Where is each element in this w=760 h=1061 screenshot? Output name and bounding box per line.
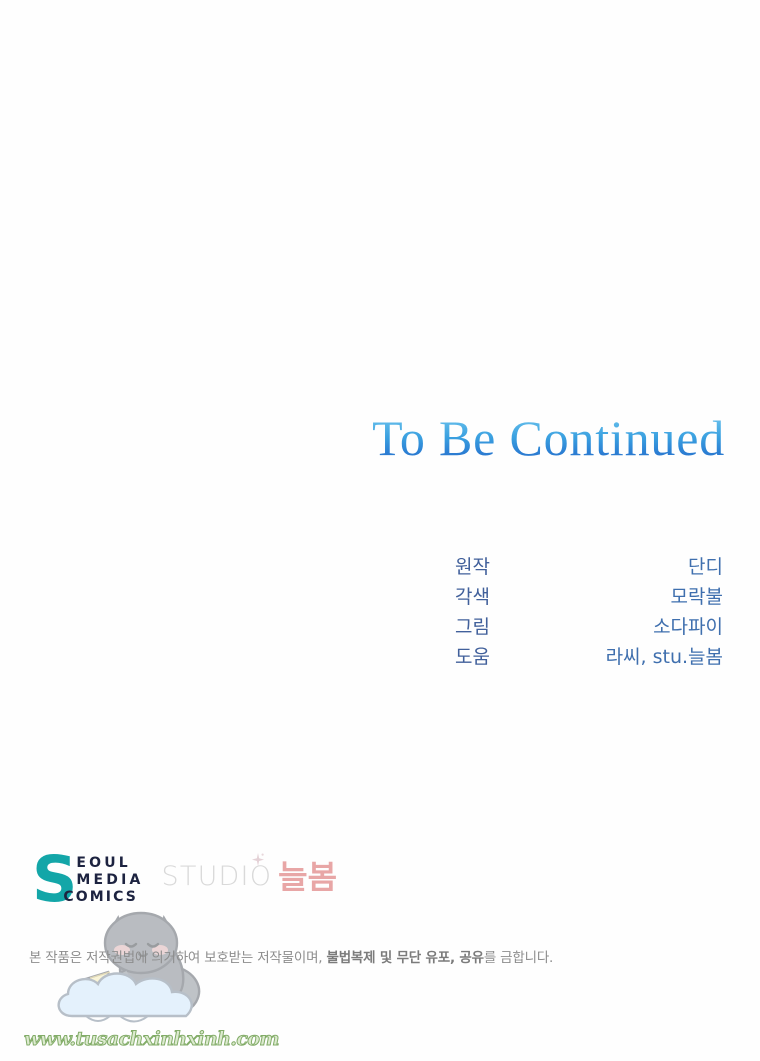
credit-role-label: 원작 <box>455 552 490 582</box>
credit-row: 도움 라씨, stu.늘봄 <box>455 642 723 672</box>
publisher-logos: S EOUL MEDIA COMICS STUDIO 늘봄 <box>32 851 337 913</box>
sparkle-icon <box>250 852 266 868</box>
credit-role-label: 도움 <box>455 642 490 672</box>
studio-korean-text: 늘봄 <box>278 860 337 894</box>
studio-neulbom-logo: STUDIO 늘봄 <box>162 860 338 894</box>
copyright-part-three: 를 금합니다. <box>484 950 553 966</box>
copyright-part-emphasis: 불법복제 및 무단 유포, 공유 <box>326 950 483 966</box>
to-be-continued-banner: To Be Continued <box>0 412 725 465</box>
site-url-watermark: www.tusachxinhxinh.com <box>24 1028 279 1050</box>
credit-person-name: 모락불 <box>671 582 723 612</box>
to-be-continued-text: To Be Continued <box>372 412 725 465</box>
copyright-part-one: 본 작품은 저작권법에 의거하여 보호받는 저작물이며, <box>29 950 326 966</box>
logo-line-comics: COMICS <box>63 889 143 906</box>
credit-role-label: 그림 <box>455 612 490 642</box>
credit-row: 원작 단디 <box>455 552 723 582</box>
credits-list: 원작 단디 각색 모락불 그림 소다파이 도움 라씨, stu.늘봄 <box>455 552 723 672</box>
credit-role-label: 각색 <box>455 582 490 612</box>
copyright-notice: 본 작품은 저작권법에 의거하여 보호받는 저작물이며, 불법복제 및 무단 유… <box>29 946 553 966</box>
credit-person-name: 단디 <box>688 552 723 582</box>
credit-row: 그림 소다파이 <box>455 612 723 642</box>
credit-person-name: 소다파이 <box>653 612 723 642</box>
credit-person-name: 라씨, stu.늘봄 <box>606 642 723 672</box>
seoul-media-comics-wordmark: EOUL MEDIA COMICS <box>76 851 143 906</box>
seoul-media-comics-logo: S EOUL MEDIA COMICS <box>32 851 144 913</box>
credit-row: 각색 모락불 <box>455 582 723 612</box>
logo-line-eoul: EOUL <box>76 855 143 872</box>
comic-end-page: To Be Continued 원작 단디 각색 모락불 그림 소다파이 도움 … <box>0 0 760 1061</box>
logo-line-media: MEDIA <box>76 872 143 889</box>
